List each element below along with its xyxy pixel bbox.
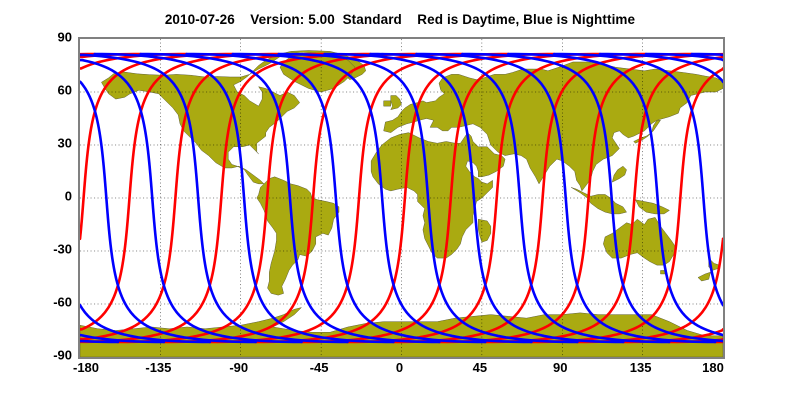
y-axis-ticks: 9060300-30-60-90 xyxy=(26,37,72,355)
y-tick-label: 0 xyxy=(32,189,72,204)
plot-frame xyxy=(78,37,725,359)
y-tick-label: 90 xyxy=(32,30,72,45)
x-tick-label: 90 xyxy=(553,360,567,375)
nighttime-track xyxy=(80,341,118,342)
y-tick-label: -60 xyxy=(32,295,72,310)
y-tick-label: 60 xyxy=(32,83,72,98)
page-title: 2010-07-26 Version: 5.00 Standard Red is… xyxy=(0,12,800,27)
ground-track-plot: 2010-07-26 Version: 5.00 Standard Red is… xyxy=(0,0,800,400)
x-tick-label: 180 xyxy=(702,360,724,375)
x-tick-label: 0 xyxy=(396,360,403,375)
y-tick-label: -30 xyxy=(32,242,72,257)
x-tick-label: 135 xyxy=(630,360,652,375)
y-tick-label: -90 xyxy=(32,348,72,363)
x-axis-ticks: -180-135-90-4504590135180 xyxy=(78,360,721,380)
x-tick-label: -180 xyxy=(73,360,99,375)
x-tick-label: -135 xyxy=(145,360,171,375)
x-tick-label: -45 xyxy=(310,360,329,375)
y-tick-label: 30 xyxy=(32,136,72,151)
landmass xyxy=(384,101,391,106)
x-tick-label: 45 xyxy=(473,360,487,375)
plot-area xyxy=(80,39,723,357)
map-and-tracks xyxy=(80,39,723,357)
x-tick-label: -90 xyxy=(229,360,248,375)
nighttime-track xyxy=(692,54,723,55)
